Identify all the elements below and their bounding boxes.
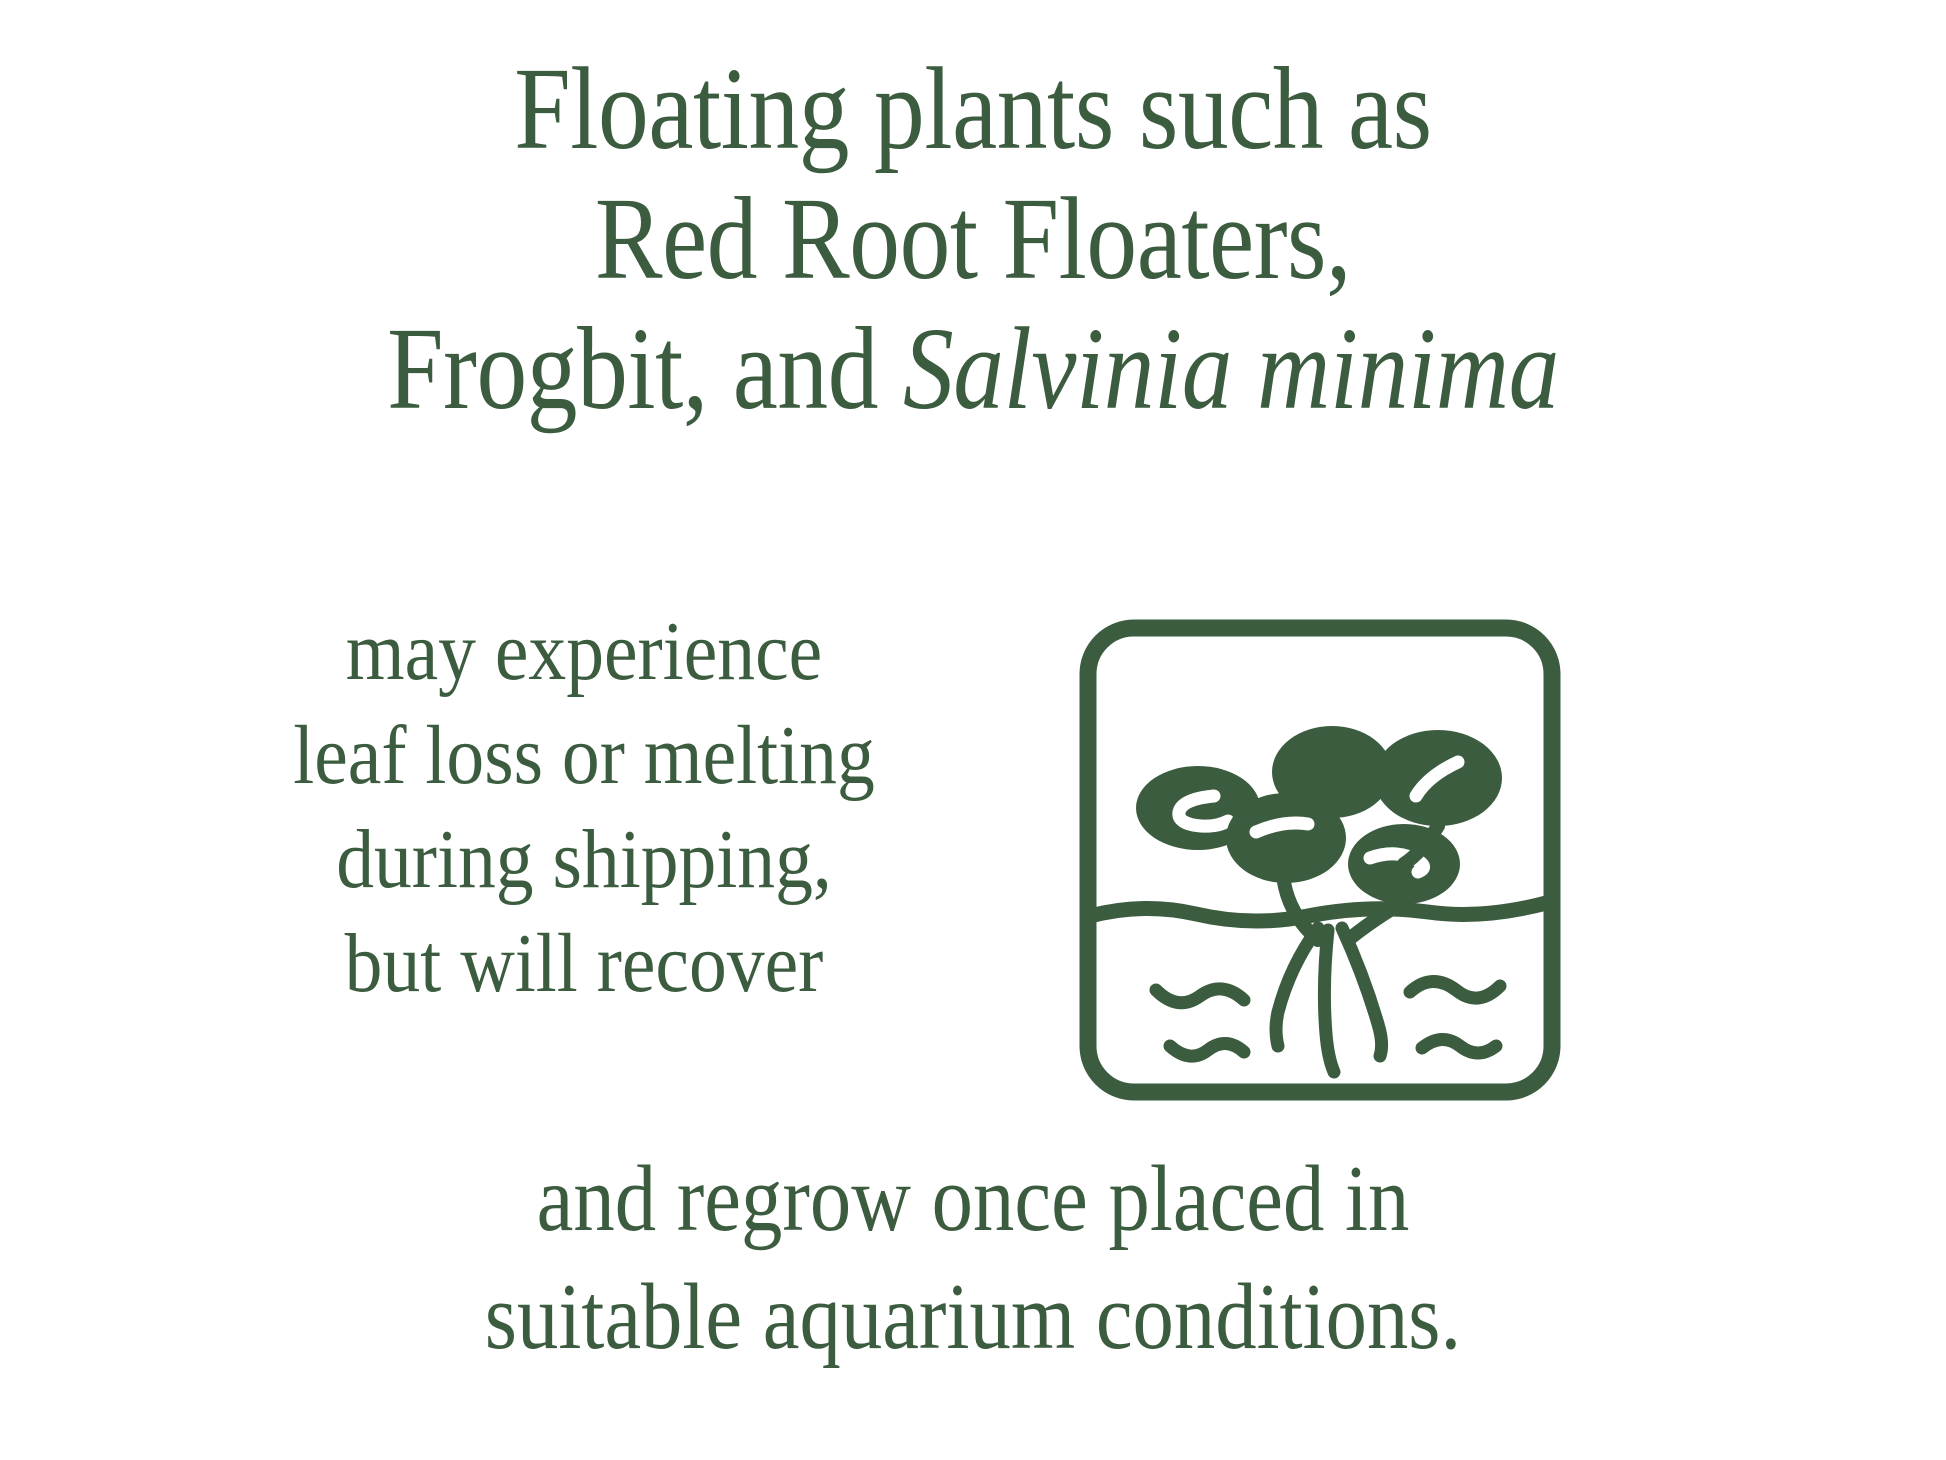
- shipping-notice-card: Floating plants such as Red Root Floater…: [0, 0, 1946, 1460]
- body-line-3: during shipping,: [161, 808, 1007, 912]
- bottom-line-1: and regrow once placed in: [117, 1140, 1829, 1258]
- heading-line-3-prefix: Frogbit, and: [387, 303, 903, 434]
- body-line-1: may experience: [161, 600, 1007, 704]
- page-title: Floating plants such as Red Root Floater…: [136, 44, 1810, 434]
- heading-line-2: Red Root Floaters,: [136, 174, 1810, 304]
- bottom-text-block: and regrow once placed in suitable aquar…: [117, 1140, 1829, 1376]
- body-text-block: may experience leaf loss or melting duri…: [53, 600, 1007, 1016]
- heading-line-1: Floating plants such as: [136, 44, 1810, 174]
- body-line-4: but will recover: [161, 912, 1007, 1016]
- bottom-line-2: suitable aquarium conditions.: [117, 1258, 1829, 1376]
- body-line-2: leaf loss or melting: [161, 704, 1007, 808]
- heading-line-3: Frogbit, and Salvinia minima: [136, 304, 1810, 434]
- floating-aquatic-plant-icon: [1070, 610, 1590, 1110]
- body-and-icon-row: may experience leaf loss or melting duri…: [0, 600, 1946, 1060]
- scientific-name: Salvinia minima: [903, 303, 1559, 434]
